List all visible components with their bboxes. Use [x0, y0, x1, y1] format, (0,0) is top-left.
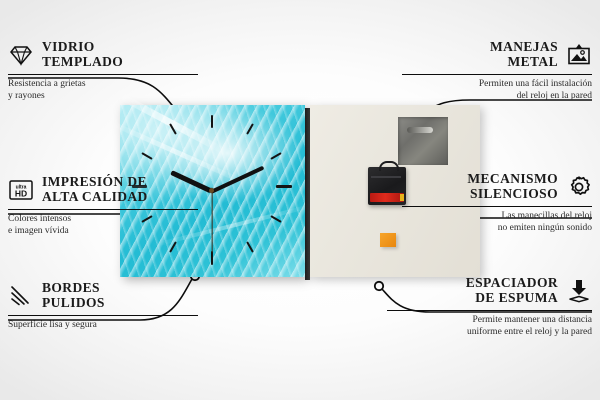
divider — [402, 74, 592, 75]
ultra-hd-icon: ultra HD — [8, 177, 34, 203]
feature-vidrio-templado: VIDRIO TEMPLADO Resistencia a grietas y … — [8, 40, 198, 102]
feature-title-line2: SILENCIOSO — [467, 187, 558, 202]
quartz-movement — [368, 167, 406, 205]
gear-icon — [566, 174, 592, 200]
feature-desc-line1: Superficie lisa y segura — [8, 320, 198, 332]
tick-mark — [246, 123, 254, 134]
feature-desc-line1: Permiten una fácil instalación — [402, 79, 592, 91]
divider — [402, 206, 592, 207]
tick-mark — [211, 115, 213, 128]
diamond-icon — [8, 42, 34, 68]
tick-mark — [270, 152, 281, 160]
battery-compartment — [370, 193, 404, 202]
metal-hanger-plate — [398, 117, 448, 165]
feature-title-line2: TEMPLADO — [42, 55, 123, 70]
tick-mark — [141, 152, 152, 160]
feature-desc-line1: Permite mantener una distancia — [387, 315, 592, 327]
tick-mark — [246, 241, 254, 252]
divider — [8, 209, 198, 210]
feature-title-line2: ALTA CALIDAD — [42, 190, 148, 205]
feature-title-line1: MANEJAS — [490, 40, 558, 55]
tick-mark — [169, 241, 177, 252]
wall-frame-hook-icon — [566, 42, 592, 68]
feature-bordes-pulidos: BORDES PULIDOS Superficie lisa y segura — [8, 281, 198, 332]
tick-mark — [270, 215, 281, 223]
foam-spacer-orange — [380, 233, 396, 247]
feature-desc-line2: e imagen vívida — [8, 226, 198, 238]
feature-title-line1: MECANISMO — [467, 172, 558, 187]
feature-manejas-metal: MANEJAS METAL Permiten una fácil instala… — [402, 40, 592, 102]
movement-seam — [371, 176, 401, 178]
feature-desc-line1: Resistencia a grietas — [8, 79, 198, 91]
feature-desc-line2: del reloj en la pared — [402, 91, 592, 103]
divider — [387, 310, 592, 311]
feature-desc-line2: y rayones — [8, 91, 198, 103]
feature-title-line1: ESPACIADOR — [466, 276, 558, 291]
feature-espaciador-espuma: ESPACIADOR DE ESPUMA Permite mantener un… — [387, 276, 592, 338]
feature-desc-line2: no emiten ningún sonido — [402, 223, 592, 235]
feature-title-line1: VIDRIO — [42, 40, 123, 55]
tick-mark — [211, 251, 213, 265]
divider — [8, 315, 198, 316]
leader-marker-espaciador — [375, 282, 383, 290]
feature-desc-line1: Colores intensos — [8, 214, 198, 226]
second-hand — [211, 191, 212, 253]
hanger-slot — [407, 127, 433, 133]
tick-mark — [276, 185, 292, 188]
feature-mecanismo-silencioso: MECANISMO SILENCIOSO Las manecillas del … — [402, 172, 592, 234]
svg-text:HD: HD — [15, 188, 27, 198]
feature-title-line2: PULIDOS — [42, 296, 105, 311]
tick-mark — [169, 123, 177, 134]
divider — [8, 74, 198, 75]
feature-title-line2: METAL — [490, 55, 558, 70]
feature-desc-line2: uniforme entre el reloj y la pared — [387, 327, 592, 339]
polished-edges-icon — [8, 283, 34, 309]
feature-title-line1: BORDES — [42, 281, 105, 296]
movement-hook — [379, 161, 399, 171]
minute-hand — [210, 165, 264, 193]
feature-title-line2: DE ESPUMA — [466, 291, 558, 306]
arrow-down-pad-icon — [566, 278, 592, 304]
clock-center-pin — [209, 188, 214, 193]
feature-impresion-alta-calidad: ultra HD IMPRESIÓN DE ALTA CALIDAD Color… — [8, 175, 198, 237]
feature-desc-line1: Las manecillas del reloj — [402, 211, 592, 223]
feature-title-line1: IMPRESIÓN DE — [42, 175, 148, 190]
